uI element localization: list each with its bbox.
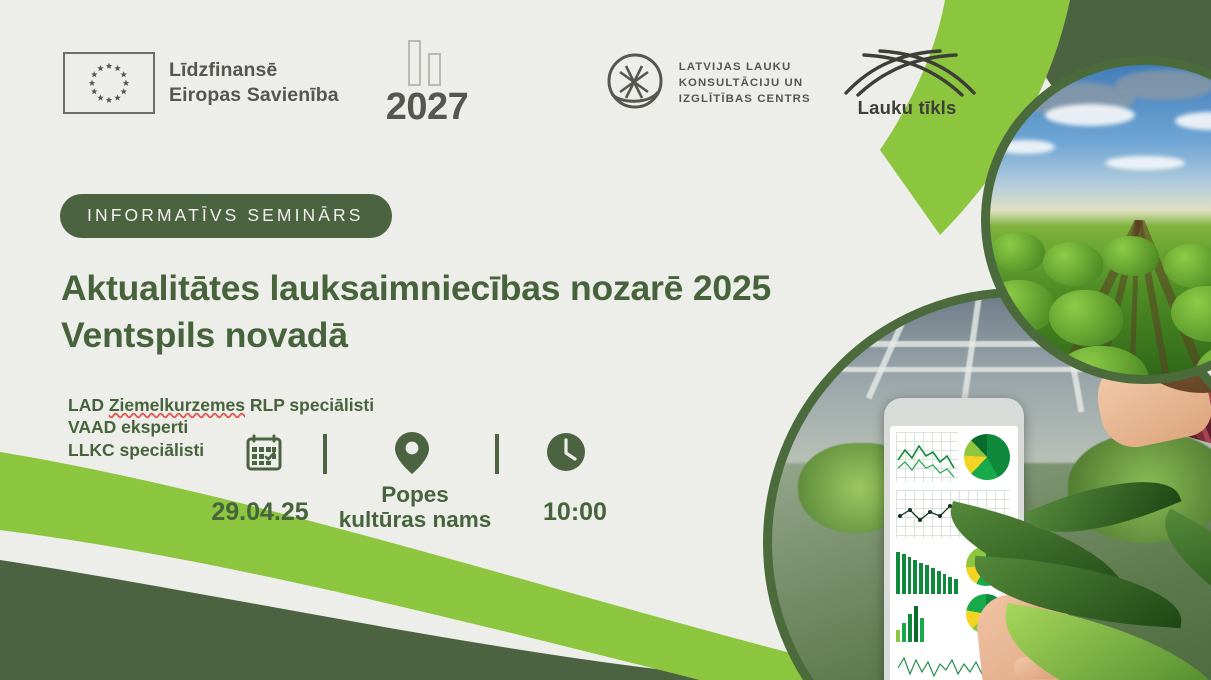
columns-mini-group (896, 602, 956, 642)
year-label: 2027 (386, 86, 469, 129)
cloud (995, 140, 1055, 154)
eu-cofunded-logo: Līdzfinansē Eiropas Savienība (63, 52, 339, 114)
cloud (1175, 112, 1211, 130)
speaker-1-c: RLP speciālisti (245, 395, 374, 415)
field-scene (985, 60, 1211, 380)
cloud (1045, 104, 1135, 126)
chart-pie-1 (964, 434, 1010, 480)
event-date: 29.04.25 (195, 498, 325, 526)
chart-columns (896, 602, 956, 642)
speaker-line-1: LAD Ziemelkurzemes RLP speciālisti (68, 394, 374, 416)
location-pin-icon (392, 430, 432, 476)
lauku-tikls-label: Lauku tīkls (858, 97, 957, 119)
event-info-row: 29.04.25 Popes kultūras nams 10:00 (195, 428, 665, 538)
event-place-line1: Popes (315, 482, 515, 507)
speaker-1-a: LAD (68, 395, 109, 415)
crop-clump (1163, 244, 1211, 288)
bars-icon (408, 40, 441, 86)
eu-logo-line1: Līdzfinansē (169, 58, 339, 83)
title-line-1: Aktualitātes lauksaimniecības nozarē 202… (61, 268, 771, 308)
cloud (1105, 156, 1185, 170)
eu-flag-icon (63, 52, 155, 114)
crop-clump (1195, 342, 1211, 380)
event-place-line2: kultūras nams (315, 507, 515, 532)
logo-row: Līdzfinansē Eiropas Savienība 2027 (63, 40, 976, 126)
bar-tall (408, 40, 421, 86)
net-lines-icon (844, 47, 976, 99)
speaker-1-misspelled: Ziemelkurzemes (109, 395, 245, 415)
crop-clump (1043, 242, 1103, 286)
divider-1 (323, 434, 327, 474)
cloud (1115, 70, 1211, 100)
llkc-circle-mark-icon (604, 52, 666, 114)
llkc-line1: LATVIJAS LAUKU (679, 59, 811, 75)
event-place: Popes kultūras nams (315, 482, 515, 532)
crop-clump (1171, 286, 1211, 342)
eu-logo-text: Līdzfinansē Eiropas Savienība (169, 58, 339, 108)
bar-short (428, 53, 441, 86)
bars-mini-group (896, 548, 958, 594)
eu-logo-line2: Eiropas Savienība (169, 83, 339, 108)
lauku-tikls-logo: Lauku tīkls (844, 47, 976, 119)
crop-rows (985, 220, 1211, 380)
seminar-type-badge: INFORMATĪVS SEMINĀRS (60, 194, 392, 238)
divider-2 (495, 434, 499, 474)
crop-clump (991, 232, 1045, 272)
event-time: 10:00 (520, 498, 630, 526)
crop-clump (985, 280, 1055, 332)
crop-field-photo (985, 60, 1211, 380)
seminar-poster: Līdzfinansē Eiropas Savienība 2027 (0, 0, 1211, 680)
llkc-line3: IZGLĪTĪBAS CENTRS (679, 91, 811, 107)
clock-icon (545, 431, 587, 473)
crop-clump (1103, 236, 1159, 276)
llkc-logo: LATVIJAS LAUKU KONSULTĀCIJU UN IZGLĪTĪBA… (604, 52, 811, 114)
chart-bars (896, 548, 958, 594)
title-line-2: Ventspils novadā (61, 312, 771, 359)
chart-line-area (896, 432, 958, 482)
calendar-icon (243, 432, 285, 474)
2027-logo: 2027 (386, 40, 486, 126)
crop-clump (1049, 290, 1123, 346)
page-title: Aktualitātes lauksaimniecības nozarē 202… (61, 265, 771, 359)
llkc-line2: KONSULTĀCIJU UN (679, 75, 811, 91)
llkc-logo-text: LATVIJAS LAUKU KONSULTĀCIJU UN IZGLĪTĪBA… (679, 59, 811, 108)
